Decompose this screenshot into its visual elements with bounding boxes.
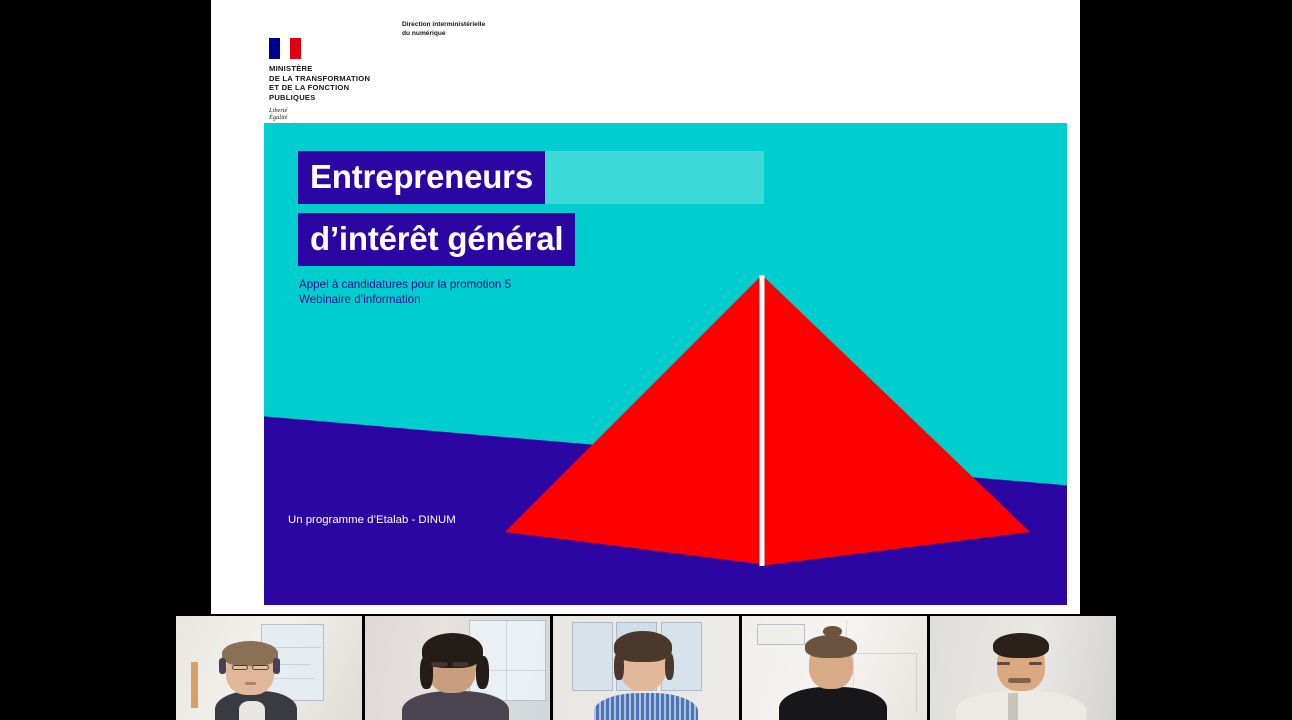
participant-tile-1[interactable] bbox=[176, 616, 362, 720]
meeting-stage: MINISTÈRE DE LA TRANSFORMATION ET DE LA … bbox=[0, 0, 1292, 720]
slide-title: Entrepreneurs d’intérêt général Appel à … bbox=[298, 151, 764, 307]
ministry-logo: MINISTÈRE DE LA TRANSFORMATION ET DE LA … bbox=[269, 38, 429, 129]
title-highlight-block bbox=[545, 151, 764, 204]
participant-tile-3[interactable] bbox=[553, 616, 739, 720]
slide-canvas: Entrepreneurs d’intérêt général Appel à … bbox=[264, 123, 1067, 605]
slide-subtitle: Appel à candidatures pour la promotion 5… bbox=[299, 278, 764, 307]
video-feed bbox=[742, 616, 928, 720]
video-feed bbox=[930, 616, 1116, 720]
video-feed bbox=[365, 616, 551, 720]
participant-tile-4[interactable] bbox=[742, 616, 928, 720]
participant-tile-2[interactable] bbox=[365, 616, 551, 720]
french-flag-icon bbox=[269, 38, 301, 59]
participant-tile-5[interactable] bbox=[930, 616, 1116, 720]
title-line-1: Entrepreneurs bbox=[298, 151, 545, 204]
shared-screen-slide[interactable]: MINISTÈRE DE LA TRANSFORMATION ET DE LA … bbox=[211, 0, 1080, 614]
slide-header: MINISTÈRE DE LA TRANSFORMATION ET DE LA … bbox=[211, 0, 1080, 123]
program-credit: Un programme d’Etalab - DINUM bbox=[288, 514, 456, 526]
video-feed bbox=[553, 616, 739, 720]
video-feed bbox=[176, 616, 362, 720]
participant-filmstrip[interactable] bbox=[176, 616, 1116, 720]
title-line-2: d’intérêt général bbox=[298, 213, 575, 266]
department-label: Direction interministérielle du numériqu… bbox=[402, 20, 485, 38]
ministry-name: MINISTÈRE DE LA TRANSFORMATION ET DE LA … bbox=[269, 64, 429, 103]
